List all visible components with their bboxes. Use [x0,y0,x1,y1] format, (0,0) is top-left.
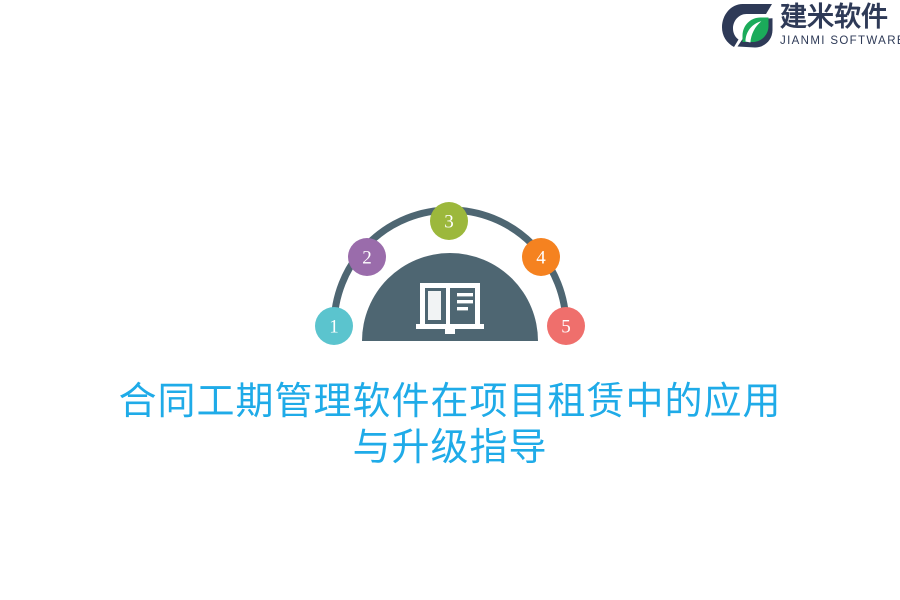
logo-text-block: 建米软件 JIANMI SOFTWARE [780,3,900,48]
logo-name-en: JIANMI SOFTWARE [780,36,900,48]
page-title: 合同工期管理软件在项目租赁中的应用 与升级指导 [0,378,900,470]
node-1-label: 1 [329,317,339,338]
node-2-label: 2 [362,248,372,269]
process-node-5[interactable]: 5 [547,307,585,345]
node-4-label: 4 [536,248,546,269]
node-5-label: 5 [561,317,571,338]
process-node-2[interactable]: 2 [348,238,386,276]
process-node-3[interactable]: 3 [430,202,468,240]
process-node-1[interactable]: 1 [315,307,353,345]
logo-name-cn: 建米软件 [780,4,900,31]
brand-logo: 建米软件 JIANMI SOFTWARE [722,0,900,50]
central-infographic: 1 2 3 4 5 [300,190,600,360]
infographic-svg: 1 2 3 4 5 [300,190,600,360]
node-3-label: 3 [444,212,454,233]
page-title-line-2: 与升级指导 [0,424,900,470]
page-title-line-1: 合同工期管理软件在项目租赁中的应用 [0,378,900,424]
jianmi-logo-mark-icon [722,2,774,48]
process-node-4[interactable]: 4 [522,238,560,276]
